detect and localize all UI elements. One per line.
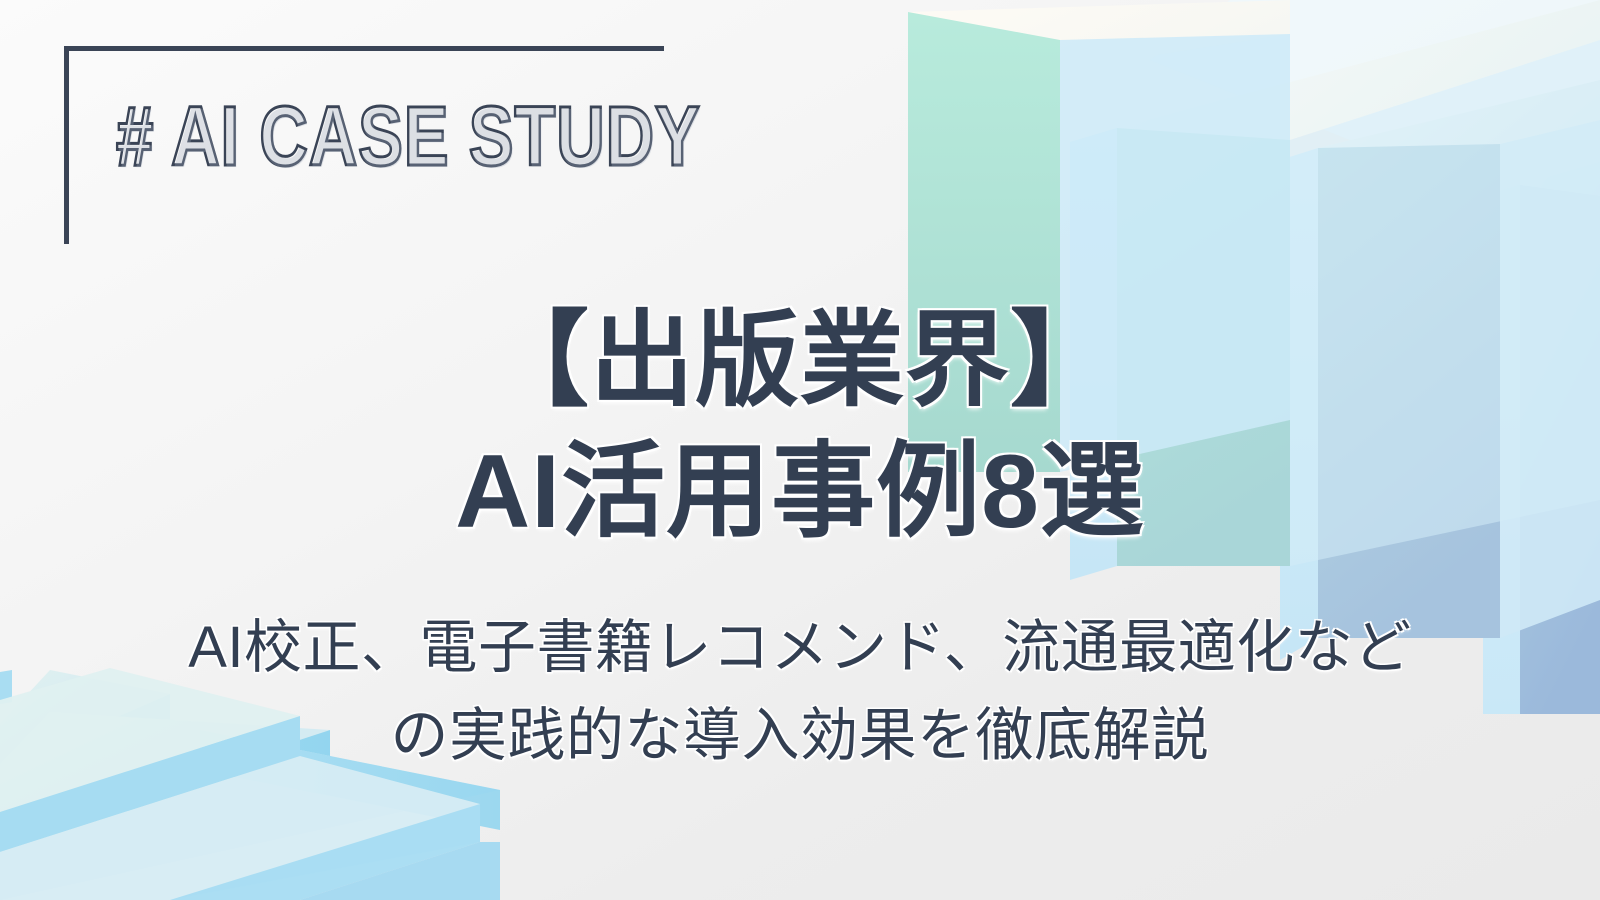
page-subtitle: AI校正、電子書籍レコメンド、流通最適化など の実践的な導入効果を徹底解説 <box>0 604 1600 780</box>
title-line-1: 【出版業界】 <box>0 296 1600 427</box>
bracket-vertical-rule <box>64 46 69 244</box>
bracket-horizontal-rule <box>64 46 664 51</box>
title-line-2: AI活用事例8選 <box>0 427 1600 558</box>
page-title: 【出版業界】 AI活用事例8選 <box>0 296 1600 558</box>
poster-canvas: # AI CASE STUDY 【出版業界】 AI活用事例8選 AI校正、電子書… <box>0 0 1600 900</box>
subtitle-line-2: の実践的な導入効果を徹底解説 <box>0 692 1600 780</box>
kicker-label: # AI CASE STUDY <box>116 94 701 178</box>
subtitle-line-1: AI校正、電子書籍レコメンド、流通最適化など <box>0 604 1600 692</box>
